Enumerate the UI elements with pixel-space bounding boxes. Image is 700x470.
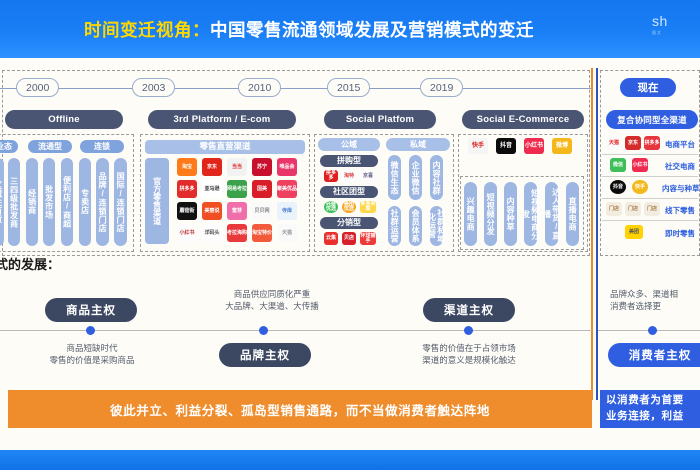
- social-private-col-1[interactable]: 企业微信: [409, 155, 422, 200]
- social-pingou-logo-1[interactable]: 淘特: [342, 170, 356, 182]
- social-ecom-logo-2[interactable]: 小红书: [524, 138, 544, 154]
- rp-row4-logo-0[interactable]: 美团: [625, 225, 643, 239]
- ecom-logo-11[interactable]: 美丽说: [202, 202, 222, 220]
- ecom-logo-19[interactable]: 天猫: [277, 224, 297, 242]
- rp-sep-3: [602, 220, 698, 221]
- social-fenxiao-logo-2[interactable]: 环球捕手: [360, 232, 376, 245]
- ecom-logo-2[interactable]: 当当: [227, 158, 247, 176]
- social-group-title-fenxiao[interactable]: 分销型: [320, 217, 378, 229]
- social-public-domain-header[interactable]: 公域: [318, 138, 380, 151]
- page-title-main: 中国零售流通领域发展及营销模式的变迁: [210, 20, 534, 40]
- era-chip-social-ecommerce[interactable]: Social E-Commerce: [462, 110, 584, 129]
- rp-row4-label: 即时零售: [665, 228, 695, 239]
- sov-note-consumer: 品牌众多、渠道相 消费者选择更: [610, 288, 700, 313]
- timeline-year-2019[interactable]: 2019: [420, 78, 463, 97]
- social-shequ-logo-2[interactable]: 多多买菜: [360, 201, 376, 213]
- social-private-domain-header[interactable]: 私域: [386, 138, 450, 151]
- rp-row0-logo-2[interactable]: 拼多多: [644, 136, 660, 150]
- ecom-logo-10[interactable]: 蘑菇街: [177, 202, 197, 220]
- social-private-col-0[interactable]: 微信生态: [388, 155, 401, 200]
- social-private-col-4[interactable]: 会员体系: [409, 206, 422, 246]
- ecom-logo-18[interactable]: 淘宝特价: [252, 224, 272, 242]
- ecom-logo-14[interactable]: 寺库: [277, 202, 297, 220]
- page-title-accent: 时间变迁视角：: [84, 20, 210, 40]
- brand-logo: sh 图文: [652, 9, 700, 39]
- ecom-logo-13[interactable]: 贝贝网: [252, 202, 272, 220]
- sov-chip-consumer[interactable]: 消费者主权: [608, 343, 700, 367]
- banner-consumer-first: 以消费者为首要 业务连接，利益: [600, 390, 700, 428]
- ecom-logo-3[interactable]: 苏宁: [252, 158, 272, 176]
- sov-dot-consumer: [648, 326, 657, 335]
- brand-logo-word: sh: [652, 13, 668, 29]
- sov-note-brand: 商品供应同质化严重 大品牌、大渠道、大传播: [192, 288, 352, 313]
- rp-sep-2: [602, 198, 698, 199]
- banner-legacy-problem: 彼此并立、利益分裂、孤岛型销售通路，而不当做消费者触达阵地: [8, 390, 592, 428]
- social-private-col-3[interactable]: 社群运营: [388, 206, 401, 246]
- sov-dot-product: [86, 326, 95, 335]
- rp-row2-logo-1[interactable]: 快手: [632, 180, 648, 194]
- social-ecom-logo-3[interactable]: 微博: [552, 138, 572, 154]
- sov-dot-brand: [259, 326, 268, 335]
- page-title: 时间变迁视角：中国零售流通领域发展及营销模式的变迁: [84, 17, 534, 42]
- rp-sep-1: [602, 176, 698, 177]
- offline-header-chain[interactable]: 连锁: [80, 140, 124, 153]
- social-group-title-pingou[interactable]: 拼购型: [320, 155, 378, 167]
- divider-blue: [596, 68, 598, 400]
- sov-note-channel: 零售的价值在于占领市场 渠道的意义是规模化触达: [394, 342, 544, 367]
- ecom-logo-17[interactable]: 考拉海购: [227, 224, 247, 242]
- social-ecom-logo-1[interactable]: 抖音: [496, 138, 516, 154]
- social-ecom-col-2[interactable]: 内容种草: [504, 182, 517, 246]
- ecom-logo-0[interactable]: 淘宝: [177, 158, 197, 176]
- ecom-official-channel[interactable]: 官方零售渠道: [145, 158, 169, 244]
- sov-note-product-l1: 商品短缺时代: [66, 343, 117, 353]
- slide-footer: [0, 450, 700, 470]
- social-pingou-logo-0[interactable]: 拼多多: [324, 170, 338, 182]
- timeline-year-2000[interactable]: 2000: [16, 78, 59, 97]
- ecom-logo-8[interactable]: 国美: [252, 180, 272, 198]
- ecom-logo-9[interactable]: 聚美优品: [277, 180, 297, 198]
- ecom-logo-4[interactable]: 唯品会: [277, 158, 297, 176]
- rp-row0-label: 电商平台: [665, 139, 695, 150]
- ecom-logo-15[interactable]: 小红书: [177, 224, 197, 242]
- ecom-logo-16[interactable]: 洋码头: [202, 224, 222, 242]
- sov-note-channel-l1: 零售的价值在于占领市场: [422, 343, 516, 353]
- social-ecom-col-0[interactable]: 兴趣电商: [464, 182, 477, 246]
- slide-root: 时间变迁视角：中国零售流通领域发展及营销模式的变迁 sh 图文 2000 200…: [0, 0, 700, 470]
- sov-note-product: 商品短缺时代 零售的价值是采购商品: [24, 342, 160, 367]
- rp-row1-logo-1[interactable]: 小红书: [632, 158, 648, 172]
- banner-blue-l2: 业务连接，利益: [606, 409, 684, 425]
- sov-chip-channel[interactable]: 渠道主权: [423, 298, 515, 322]
- offline-col-6[interactable]: 品牌/连锁门店: [96, 158, 109, 246]
- section-title-development: 模式的发展：: [0, 254, 60, 273]
- rp-row3-logo-2[interactable]: 门店: [644, 202, 660, 216]
- slide-canvas: 2000 2003 2010 2015 2019 现在 Offline 3rd …: [0, 58, 700, 450]
- rp-row3-logo-1[interactable]: 门店: [625, 202, 641, 216]
- social-ecom-logo-0[interactable]: 快手: [468, 138, 488, 154]
- social-ecom-col-3[interactable]: 短视频电商分发: [524, 182, 537, 246]
- sov-dot-channel: [464, 326, 473, 335]
- divider-orange: [591, 68, 593, 400]
- social-fenxiao-logo-0[interactable]: 云集: [324, 232, 338, 245]
- timeline-year-2015[interactable]: 2015: [327, 78, 370, 97]
- offline-col-1[interactable]: 三四级批发商: [8, 158, 20, 246]
- sov-note-product-l2: 零售的价值是采购商品: [49, 355, 134, 365]
- rp-row0-logo-1[interactable]: 京东: [625, 136, 641, 150]
- offline-col-3[interactable]: 批发市场: [43, 158, 55, 246]
- sov-chip-brand[interactable]: 品牌主权: [219, 343, 311, 367]
- rp-row3-label: 线下零售: [665, 205, 695, 216]
- social-fenxiao-logo-1[interactable]: 贝店: [342, 232, 356, 245]
- era-chip-3rd-platform[interactable]: 3rd Platform / E-com: [148, 110, 296, 129]
- offline-col-5[interactable]: 专卖店: [79, 158, 91, 246]
- social-shequ-logo-0[interactable]: 兴盛优选: [324, 201, 338, 213]
- ecom-logo-5[interactable]: 拼多多: [177, 180, 197, 198]
- timeline-year-2010[interactable]: 2010: [238, 78, 281, 97]
- offline-header-distribution[interactable]: 流通型: [28, 140, 72, 153]
- offline-header-format[interactable]: 业态: [0, 140, 18, 153]
- social-ecom-col-1[interactable]: 短视频分发: [484, 182, 497, 246]
- rp-sep-0: [602, 154, 698, 155]
- rp-row3-logo-0[interactable]: 门店: [606, 202, 622, 216]
- ecom-logo-7[interactable]: 网易考拉: [227, 180, 247, 198]
- timeline-now-marker[interactable]: 现在: [620, 78, 676, 97]
- rp-row1-label: 社交电商: [665, 161, 695, 172]
- rp-row2-label: 内容与种草: [662, 183, 700, 194]
- rp-row0-logo-0[interactable]: 天猫: [606, 136, 622, 150]
- sov-note-brand-l1: 商品供应同质化严重: [234, 289, 311, 299]
- social-pingou-logo-2[interactable]: 京喜: [360, 170, 376, 182]
- offline-col-2[interactable]: 经销商: [26, 158, 38, 246]
- era-chip-omnichannel[interactable]: 复合协同型全渠道: [606, 110, 698, 129]
- offline-col-7[interactable]: 国际/连锁门店: [114, 158, 127, 246]
- timeline-year-2003[interactable]: 2003: [132, 78, 175, 97]
- sov-note-brand-l2: 大品牌、大渠道、大传播: [225, 301, 319, 311]
- era-chip-social-platform[interactable]: Social Platfom: [324, 110, 436, 129]
- social-group-title-shequtuan[interactable]: 社区团型: [320, 186, 378, 198]
- ecom-channel-header[interactable]: 零售直营渠道: [145, 140, 305, 154]
- banner-blue-l1: 以消费者为首要: [606, 393, 684, 409]
- social-shequ-logo-1[interactable]: 美团优选: [342, 201, 356, 213]
- slide-header: 时间变迁视角：中国零售流通领域发展及营销模式的变迁 sh 图文: [0, 0, 700, 58]
- ecom-logo-6[interactable]: 亚马逊: [202, 180, 222, 198]
- social-private-col-5[interactable]: 社群私域化运营: [430, 206, 443, 246]
- social-private-col-2[interactable]: 内容社群: [430, 155, 443, 200]
- sov-note-channel-l2: 渠道的意义是规模化触达: [422, 355, 516, 365]
- brand-logo-sub: 图文: [652, 30, 662, 36]
- sov-note-consumer-l1: 品牌众多、渠道相: [610, 289, 678, 299]
- social-ecom-col-4[interactable]: 达人带货/直播: [545, 182, 558, 246]
- sov-note-consumer-l2: 消费者选择更: [610, 301, 661, 311]
- social-ecom-col-5[interactable]: 直播电商: [566, 182, 579, 246]
- offline-col-4[interactable]: 便利店/商超: [61, 158, 73, 246]
- rp-row2-logo-0[interactable]: 抖音: [610, 180, 626, 194]
- timeline-axis: [0, 88, 592, 89]
- ecom-logo-1[interactable]: 京东: [202, 158, 222, 176]
- era-chip-offline[interactable]: Offline: [5, 110, 123, 129]
- rp-row1-logo-0[interactable]: 微信: [610, 158, 626, 172]
- ecom-logo-12[interactable]: 蜜芽: [227, 202, 247, 220]
- offline-col-0[interactable]: 区域性百货: [0, 158, 4, 246]
- sov-chip-product[interactable]: 商品主权: [45, 298, 137, 322]
